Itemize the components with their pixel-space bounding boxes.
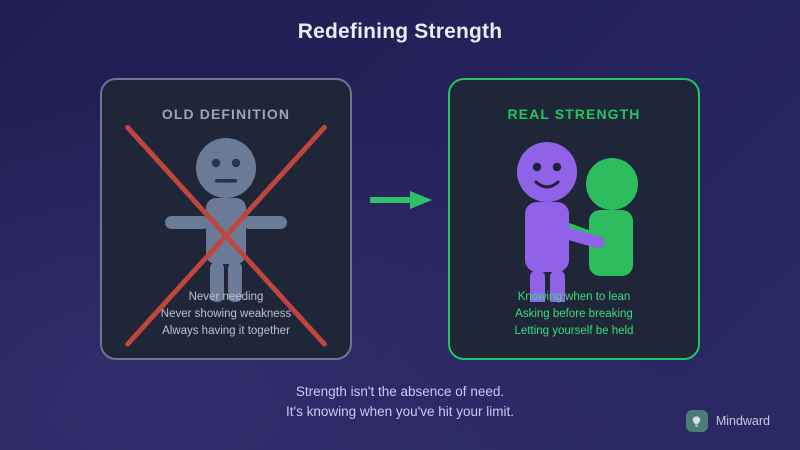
new-bullet-2: Asking before breaking bbox=[450, 306, 698, 323]
lightbulb-icon bbox=[690, 415, 703, 428]
old-definition-bullets: Never needing Never showing weakness Alw… bbox=[102, 289, 350, 340]
caption-line-1: Strength isn't the absence of need. bbox=[0, 382, 800, 402]
card-old-definition: OLD DEFINITION Never needing Never showi… bbox=[100, 78, 352, 360]
real-strength-illustration bbox=[450, 132, 698, 302]
brand-logo: Mindward bbox=[686, 410, 770, 432]
new-bullet-3: Letting yourself be held bbox=[450, 323, 698, 340]
right-arrow-icon bbox=[368, 185, 440, 215]
card-old-heading: OLD DEFINITION bbox=[102, 106, 350, 122]
new-bullet-1: Knowing when to lean bbox=[450, 289, 698, 306]
brand-name: Mindward bbox=[716, 414, 770, 428]
caption-line-2: It's knowing when you've hit your limit. bbox=[0, 402, 800, 422]
two-figures-leaning-icon bbox=[499, 132, 649, 302]
slide-canvas: Redefining Strength OLD DEFINITION Never… bbox=[0, 0, 800, 450]
old-bullet-1: Never needing bbox=[102, 289, 350, 306]
caption: Strength isn't the absence of need. It's… bbox=[0, 382, 800, 422]
card-new-heading: REAL STRENGTH bbox=[450, 106, 698, 122]
real-strength-bullets: Knowing when to lean Asking before break… bbox=[450, 289, 698, 340]
page-title: Redefining Strength bbox=[0, 20, 800, 44]
old-bullet-3: Always having it together bbox=[102, 323, 350, 340]
old-bullet-2: Never showing weakness bbox=[102, 306, 350, 323]
lone-stiff-figure-icon bbox=[151, 132, 301, 302]
old-figure-illustration bbox=[102, 132, 350, 302]
brand-badge bbox=[686, 410, 708, 432]
card-real-strength: REAL STRENGTH Knowing when t bbox=[448, 78, 700, 360]
